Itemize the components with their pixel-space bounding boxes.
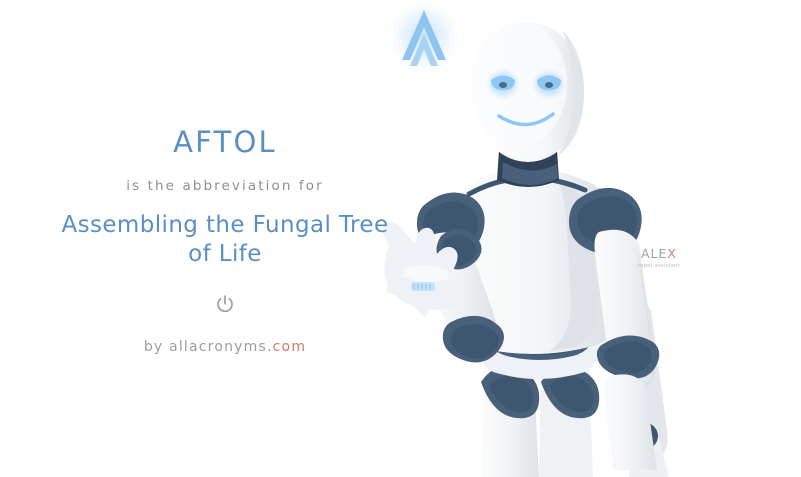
- acronym-title: AFTOL: [173, 128, 277, 157]
- definition-text-block: AFTOL is the abbreviation for Assembling…: [0, 0, 450, 477]
- acronym-definition-card: ALEX robot assistant AFTOL is the abbrev…: [0, 0, 801, 477]
- byline-prefix: by allacronyms: [144, 339, 267, 355]
- abbreviation-connector: is the abbreviation for: [126, 178, 324, 194]
- power-icon[interactable]: [214, 293, 236, 315]
- source-byline[interactable]: by allacronyms.com: [144, 339, 306, 355]
- byline-tld: .com: [267, 339, 306, 355]
- acronym-expansion: Assembling the Fungal Tree of Life: [50, 211, 400, 269]
